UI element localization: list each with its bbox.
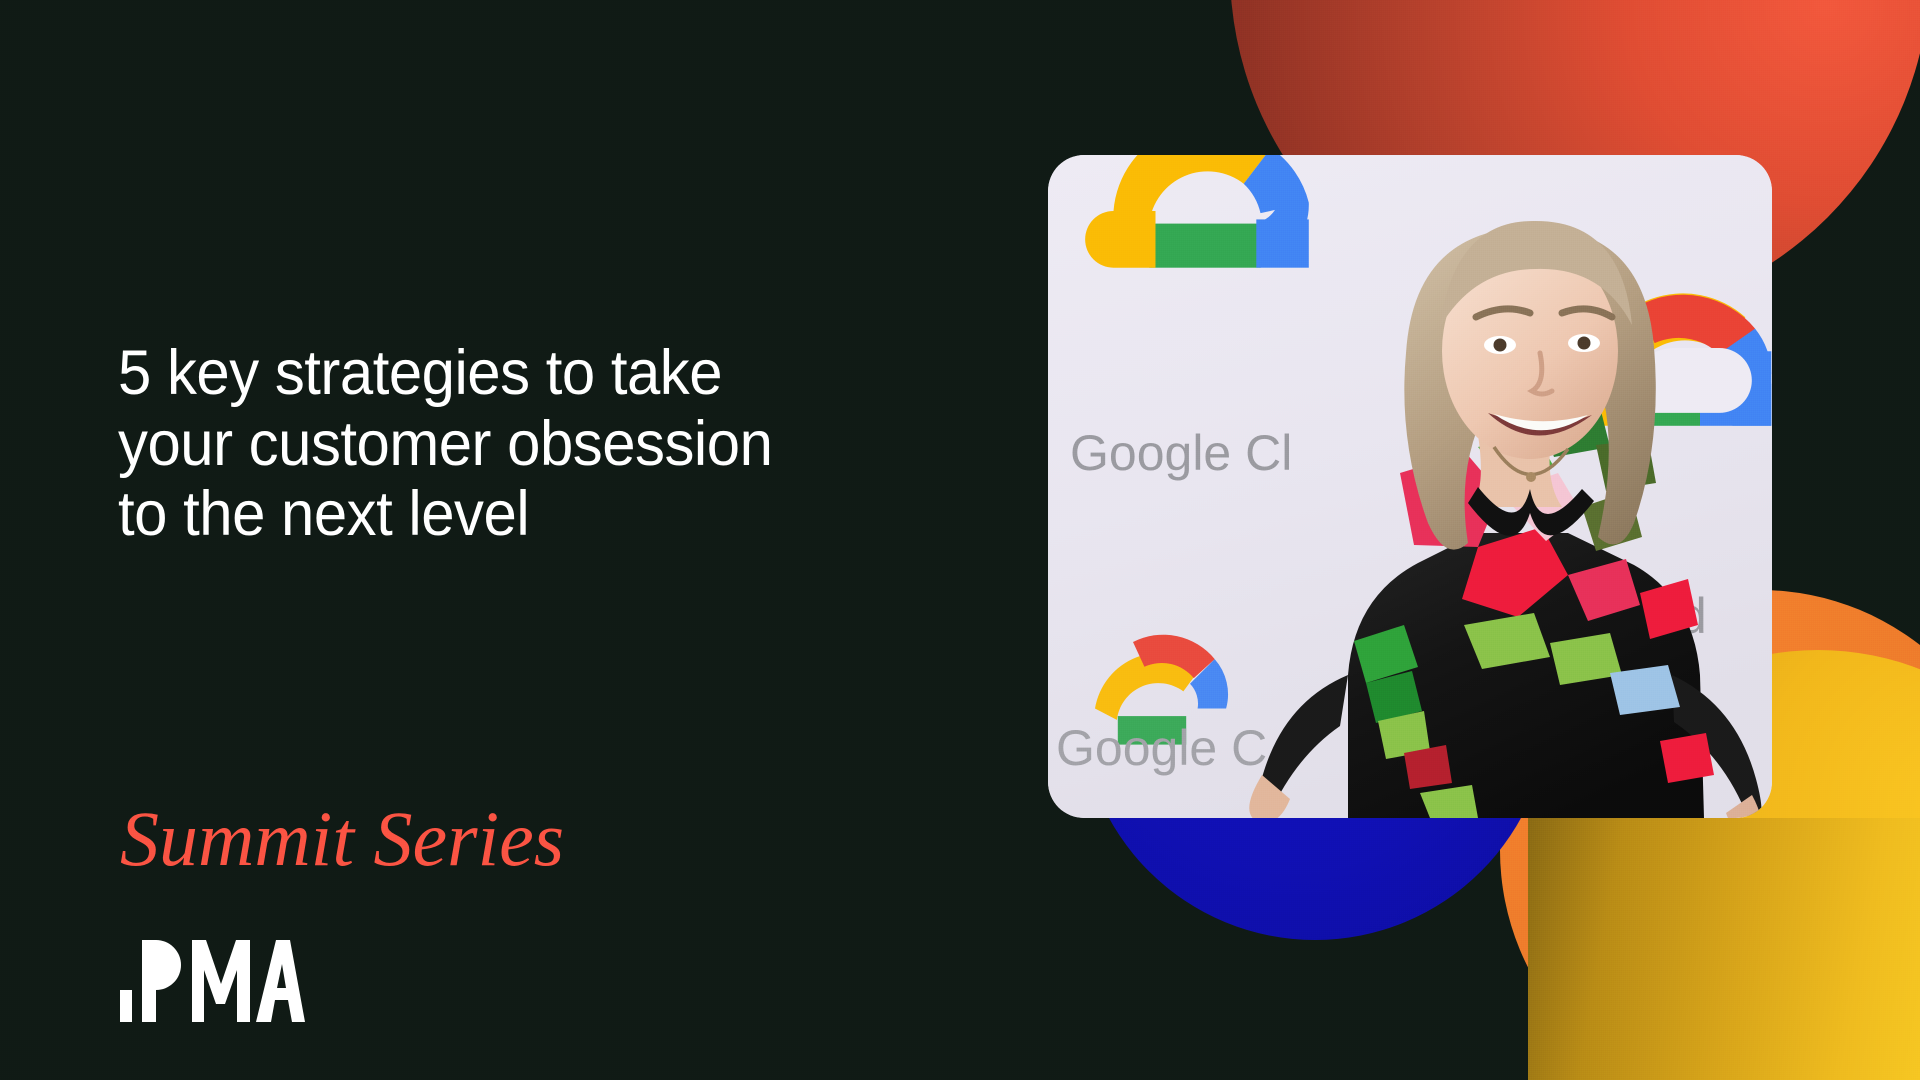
pma-logo-a bbox=[256, 940, 305, 1022]
decor-yellow-block bbox=[1528, 818, 1920, 1080]
pma-logo-dot bbox=[120, 990, 132, 1022]
slide-canvas: Google Cl Cloud bbox=[0, 0, 1920, 1080]
headshot-illustration: Google Cl Cloud bbox=[1048, 155, 1772, 818]
backdrop-text-bottom: Google C bbox=[1056, 720, 1267, 776]
headline-line-2: your customer obsession bbox=[118, 409, 973, 480]
pma-logo bbox=[120, 940, 305, 1022]
backdrop-text-left: Google Cl bbox=[1070, 425, 1292, 481]
pma-logo-p-bowl bbox=[156, 940, 181, 990]
series-label: Summit Series bbox=[120, 800, 564, 878]
headline-line-3: to the next level bbox=[118, 479, 973, 550]
pma-logo-mark bbox=[120, 940, 305, 1022]
pma-logo-p-stem bbox=[142, 940, 156, 1022]
headline-line-1: 5 key strategies to take bbox=[118, 338, 973, 409]
speaker-headshot-photo: Google Cl Cloud bbox=[1048, 155, 1772, 818]
page-title: 5 key strategies to take your customer o… bbox=[118, 338, 1018, 550]
pma-logo-m bbox=[192, 940, 250, 1022]
